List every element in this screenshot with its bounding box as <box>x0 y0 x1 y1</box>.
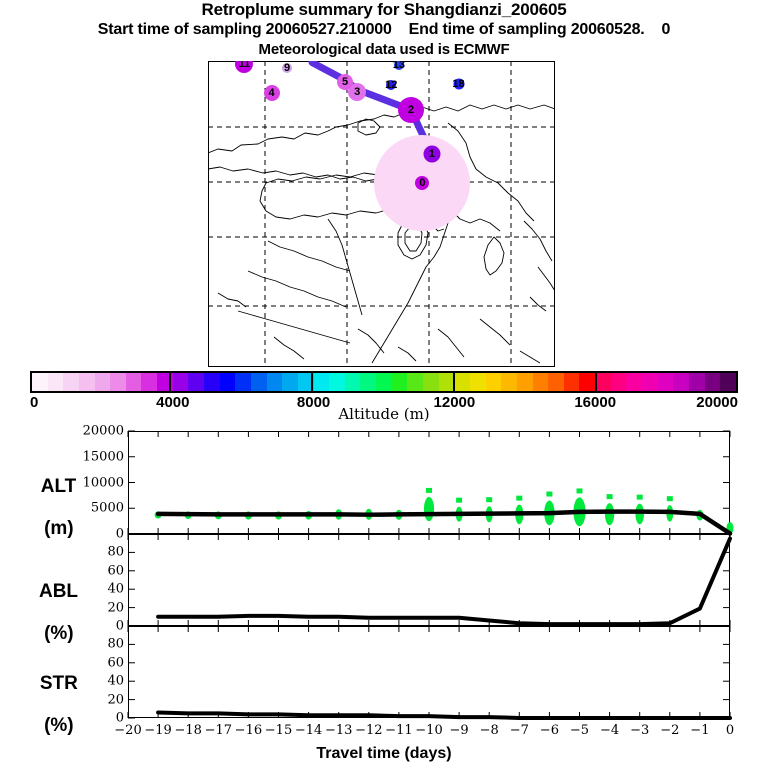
alt-blob-day-9 <box>456 507 463 522</box>
str-ytick-40: 40 <box>60 674 124 689</box>
colorbar-swatch-16 <box>282 373 298 391</box>
alt-axis-label: ALT (m) <box>8 455 78 560</box>
xtick--20: −20 <box>114 723 141 738</box>
alt-blob-day-8 <box>486 506 493 522</box>
plume-marker-18 <box>453 78 464 89</box>
page-title: Retroplume summary for Shangdianzi_20060… <box>0 0 768 20</box>
alt-ytick-10000: 10000 <box>60 475 124 490</box>
alt-blob-day-15 <box>275 511 282 519</box>
plume-marker-11 <box>235 61 253 73</box>
map-content: 012354911121318 <box>208 61 555 367</box>
abl-axis-unit: (%) <box>44 623 74 644</box>
alt-speck-day-9 <box>456 498 462 503</box>
abl-axis-name: ABL <box>39 581 78 602</box>
xtick--12: −12 <box>355 723 382 738</box>
plume-marker-4 <box>264 85 280 101</box>
colorbar-swatch-30 <box>501 373 517 391</box>
alt-speck-day-6 <box>546 492 552 497</box>
xtick-0: 0 <box>726 723 734 738</box>
str-axis-label: STR (%) <box>8 652 78 757</box>
plume-marker-9 <box>282 63 292 73</box>
colorbar-swatch-10 <box>188 373 204 391</box>
plume-marker-0 <box>415 176 429 190</box>
alt-speck-day-5 <box>577 488 583 493</box>
plume-marker-12 <box>386 80 396 90</box>
met-data-line: Meteorological data used is ECMWF <box>0 40 768 59</box>
str-ytick-60: 60 <box>60 655 124 670</box>
alt-blob-day0 <box>727 522 734 534</box>
abl-ytick-60: 60 <box>60 563 124 578</box>
xtick--16: −16 <box>235 723 262 738</box>
alt-axis-name: ALT <box>41 476 77 497</box>
alt-blob-day-13 <box>335 509 342 519</box>
colorbar-swatch-33 <box>548 373 564 391</box>
colorbar-swatch-32 <box>533 373 549 391</box>
xtick--4: −4 <box>600 723 619 738</box>
colorbar-divider <box>595 371 597 393</box>
alt-speck-day-2 <box>667 496 673 501</box>
axis-ticks <box>128 431 730 718</box>
alt-spread-blobs <box>155 488 734 534</box>
colorbar-gradient <box>30 371 738 393</box>
alt-blob-day-4 <box>605 503 614 525</box>
x-axis-title: Travel time (days) <box>0 745 768 763</box>
alt-blob-day-6 <box>544 501 554 526</box>
colorbar-swatch-20 <box>345 373 361 391</box>
colorbar-swatch-31 <box>517 373 533 391</box>
plume-marker-1 <box>423 146 440 163</box>
xtick--13: −13 <box>325 723 352 738</box>
xtick--19: −19 <box>144 723 171 738</box>
colorbar-swatch-39 <box>642 373 658 391</box>
xtick--1: −1 <box>690 723 709 738</box>
str-panel-frame <box>128 626 730 718</box>
colorbar-swatch-26 <box>439 373 455 391</box>
alt-ytick-20000: 20000 <box>60 424 124 439</box>
alt-blob-day-3 <box>635 504 644 525</box>
abl-ytick-80: 80 <box>60 545 124 560</box>
xtick--10: −10 <box>415 723 442 738</box>
colorbar-swatch-41 <box>673 373 689 391</box>
colorbar-swatch-23 <box>392 373 408 391</box>
colorbar-swatch-2 <box>63 373 79 391</box>
alt-blob-day-18 <box>185 511 192 519</box>
alt-blob-day-19 <box>155 511 162 518</box>
colorbar-swatch-37 <box>611 373 627 391</box>
abl-line <box>158 539 730 625</box>
colorbar-swatch-3 <box>79 373 95 391</box>
colorbar-swatch-6 <box>126 373 142 391</box>
alt-speck-day-10 <box>426 488 432 493</box>
colorbar-swatch-0 <box>32 373 48 391</box>
str-ytick-0: 0 <box>60 711 124 726</box>
colorbar-swatch-34 <box>564 373 580 391</box>
altitude-colorbar: 040008000120001600020000 <box>30 371 738 393</box>
plume-centroid-layer: 012354911121318 <box>208 61 555 367</box>
alt-blob-day-16 <box>245 511 252 519</box>
colorbar-swatch-38 <box>626 373 642 391</box>
alt-blob-day-10 <box>424 497 434 521</box>
abl-ytick-40: 40 <box>60 582 124 597</box>
colorbar-swatch-22 <box>376 373 392 391</box>
colorbar-swatch-18 <box>314 373 330 391</box>
xtick--8: −8 <box>480 723 499 738</box>
colorbar-swatch-29 <box>486 373 502 391</box>
colorbar-swatch-40 <box>658 373 674 391</box>
str-ytick-80: 80 <box>60 637 124 652</box>
alt-speck-day-8 <box>486 497 492 502</box>
colorbar-swatch-44 <box>720 373 736 391</box>
xtick--2: −2 <box>660 723 679 738</box>
alt-speck-day-4 <box>607 494 613 499</box>
colorbar-swatch-25 <box>423 373 439 391</box>
colorbar-swatch-28 <box>470 373 486 391</box>
str-axis-unit: (%) <box>44 715 74 736</box>
alt-axis-unit: (m) <box>44 518 74 539</box>
colorbar-divider <box>453 371 455 393</box>
colorbar-swatch-11 <box>204 373 220 391</box>
xtick--17: −17 <box>205 723 232 738</box>
sampling-time-line: Start time of sampling 20060527.210000 E… <box>0 20 768 40</box>
alt-ytick-5000: 5000 <box>60 501 124 516</box>
alt-mean-line <box>158 512 730 534</box>
colorbar-swatch-13 <box>235 373 251 391</box>
colorbar-swatch-35 <box>579 373 595 391</box>
str-axis-name: STR <box>40 673 78 694</box>
alt-blob-day-11 <box>395 510 402 520</box>
colorbar-divider <box>169 371 171 393</box>
colorbar-swatch-21 <box>360 373 376 391</box>
colorbar-swatch-14 <box>251 373 267 391</box>
alt-ytick-15000: 15000 <box>60 449 124 464</box>
xtick--15: −15 <box>265 723 292 738</box>
xtick--7: −7 <box>510 723 529 738</box>
colorbar-swatch-43 <box>705 373 721 391</box>
abl-axis-label: ABL (%) <box>8 560 78 665</box>
alt-blob-day-17 <box>215 511 222 519</box>
alt-panel-frame <box>128 431 730 534</box>
colorbar-axis-title: Altitude (m) <box>30 405 738 423</box>
alt-blob-day-2 <box>666 505 673 521</box>
alt-blob-day-7 <box>515 505 523 525</box>
colorbar-swatch-27 <box>454 373 470 391</box>
retroplume-map: 012354911121318 <box>208 61 555 367</box>
colorbar-swatch-19 <box>329 373 345 391</box>
str-line <box>158 712 730 718</box>
alt-ytick-0: 0 <box>60 527 124 542</box>
alt-blob-day-12 <box>365 509 372 520</box>
xtick--6: −6 <box>540 723 559 738</box>
alt-speck-day-3 <box>637 495 643 500</box>
colorbar-swatch-1 <box>48 373 64 391</box>
colorbar-swatch-24 <box>407 373 423 391</box>
colorbar-swatch-15 <box>267 373 283 391</box>
alt-speck-day-7 <box>516 496 522 501</box>
plume-marker-5 <box>337 74 353 90</box>
xtick--11: −11 <box>385 723 412 738</box>
alt-blob-day-1 <box>696 510 703 521</box>
colorbar-swatch-5 <box>110 373 126 391</box>
plume-marker-2 <box>398 97 424 123</box>
abl-panel-frame <box>128 534 730 626</box>
plume-marker-13 <box>394 61 404 70</box>
xtick--5: −5 <box>570 723 589 738</box>
xtick--9: −9 <box>450 723 469 738</box>
colorbar-divider <box>311 371 313 393</box>
alt-blob-day-14 <box>305 511 312 520</box>
title-block: Retroplume summary for Shangdianzi_20060… <box>0 0 768 59</box>
xtick--18: −18 <box>174 723 201 738</box>
str-ytick-20: 20 <box>60 692 124 707</box>
xtick--14: −14 <box>295 723 322 738</box>
colorbar-swatch-9 <box>173 373 189 391</box>
colorbar-swatch-4 <box>95 373 111 391</box>
alt-blob-day-5 <box>573 497 585 526</box>
xtick--3: −3 <box>630 723 649 738</box>
figure-canvas: Retroplume summary for Shangdianzi_20060… <box>0 0 768 768</box>
colorbar-swatch-12 <box>220 373 236 391</box>
colorbar-swatch-42 <box>689 373 705 391</box>
abl-ytick-20: 20 <box>60 600 124 615</box>
colorbar-swatch-36 <box>595 373 611 391</box>
abl-ytick-0: 0 <box>60 619 124 634</box>
colorbar-swatch-7 <box>141 373 157 391</box>
